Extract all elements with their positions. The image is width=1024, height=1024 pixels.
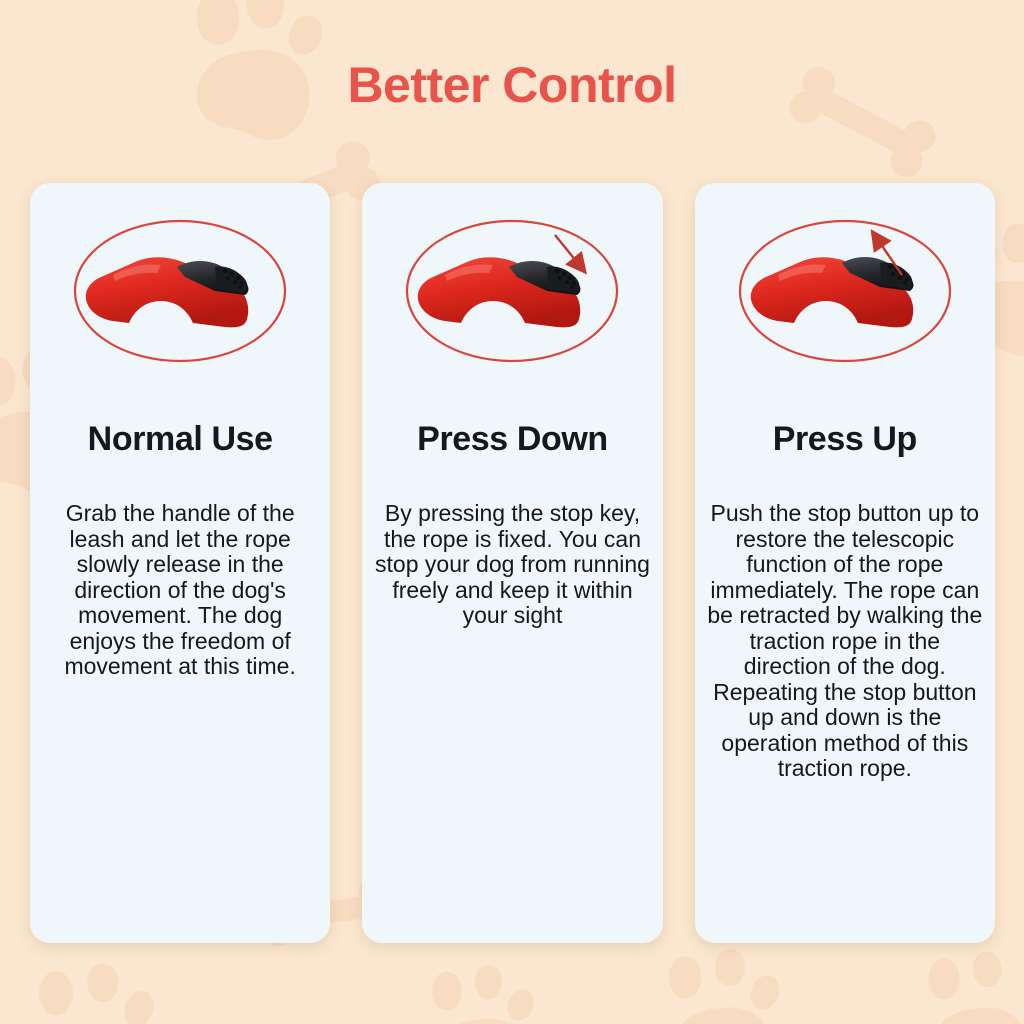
product-figure [30,183,330,398]
card-body-text: Push the stop button up to restore the t… [695,501,995,782]
card-heading: Press Up [773,420,917,459]
feature-card-press-up[interactable]: Press Up Push the stop button up to rest… [695,183,995,943]
arrow-down-icon [555,235,581,267]
leash-handle-normal-icon [65,201,295,381]
feature-card-normal-use[interactable]: Normal Use Grab the handle of the leash … [30,183,330,943]
card-heading: Press Down [417,420,608,459]
card-heading: Normal Use [88,420,273,459]
card-body-text: By pressing the stop key, the rope is fi… [362,501,662,629]
leash-handle-press-up-icon [730,201,960,381]
product-figure [362,183,662,398]
feature-card-press-down[interactable]: Press Down By pressing the stop key, the… [362,183,662,943]
feature-cards-row: Normal Use Grab the handle of the leash … [30,183,995,943]
leash-handle-press-down-icon [397,201,627,381]
product-figure [695,183,995,398]
card-body-text: Grab the handle of the leash and let the… [30,501,330,680]
page-title: Better Control [0,56,1024,114]
